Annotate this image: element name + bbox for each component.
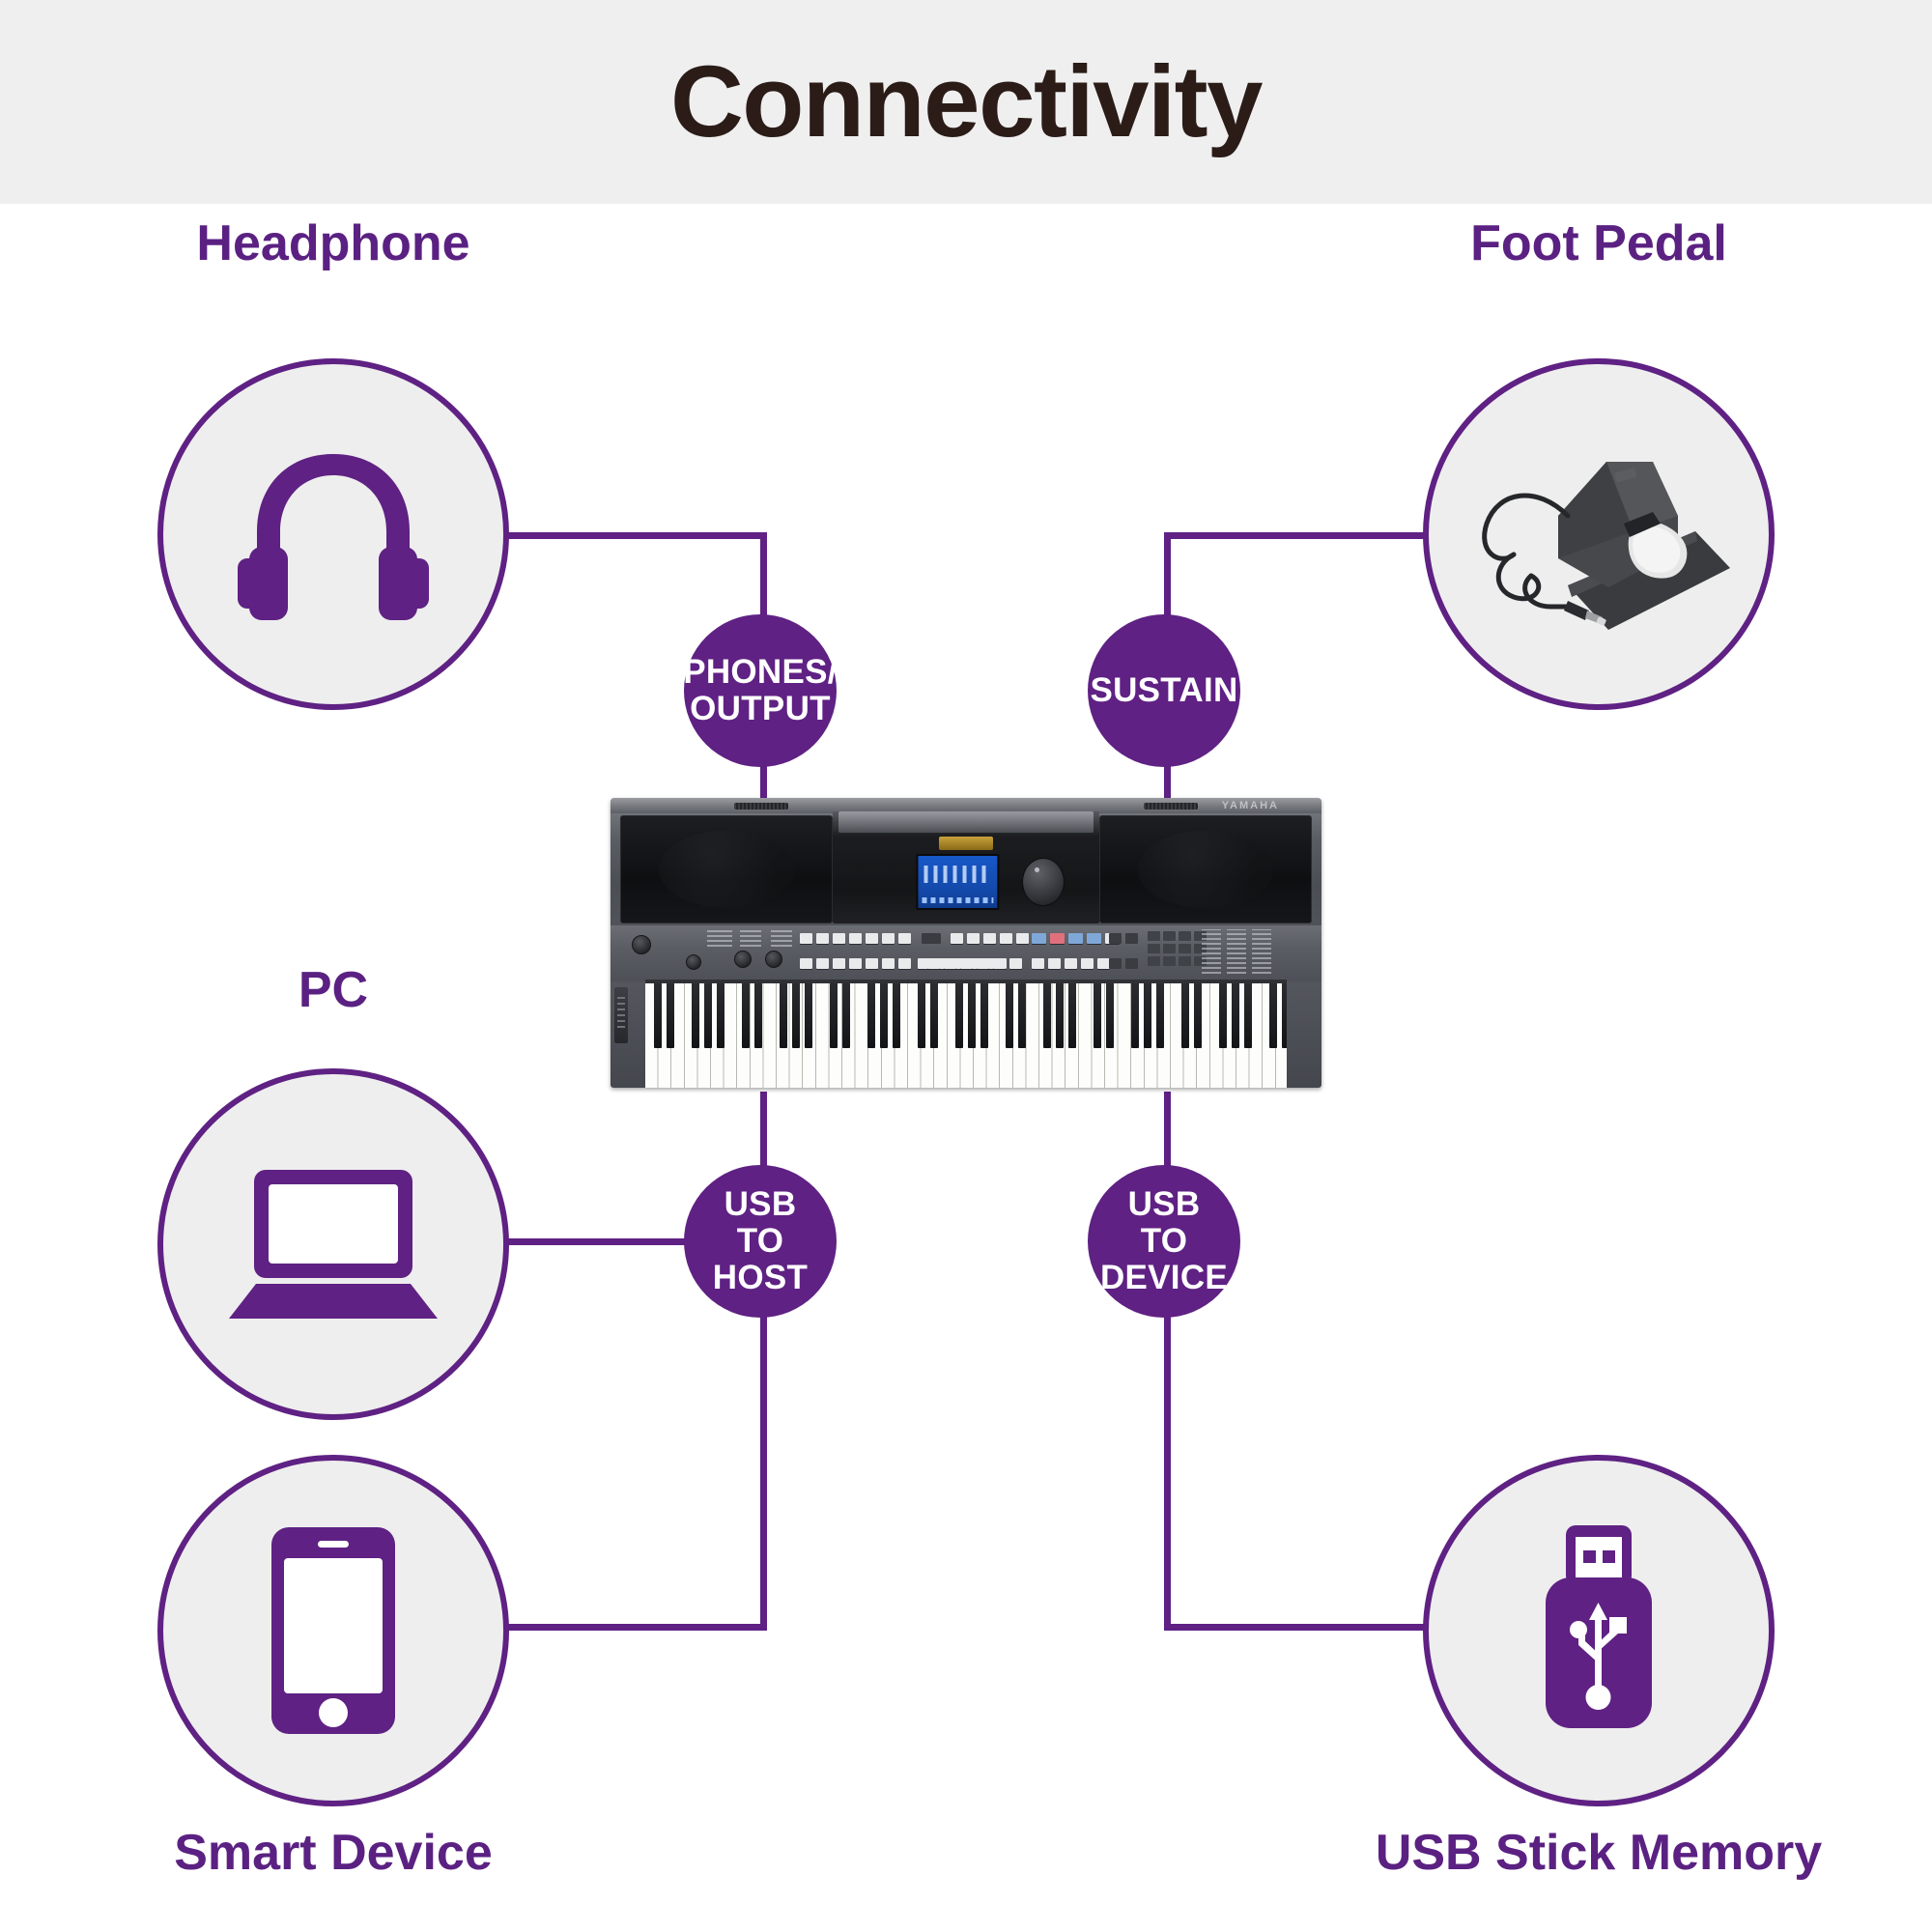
keyboard-keys [645, 980, 1287, 1088]
port-sustain-line1: SUSTAIN [1090, 672, 1237, 709]
wire-footpedal-to-sustain [1164, 532, 1427, 539]
port-usb-to-device-line3: DEVICE [1100, 1260, 1228, 1296]
usb-flash-drive-icon [1536, 1521, 1662, 1740]
headphone-icon [232, 442, 435, 626]
foot-pedal-photo [1454, 423, 1744, 645]
port-usb-to-host-line2: TO [713, 1223, 808, 1260]
wire-usb-device-down [1164, 1285, 1171, 1631]
smartphone-icon [266, 1523, 401, 1738]
page-title: Connectivity [0, 0, 1932, 204]
keyboard-lcd-screen [916, 854, 999, 910]
port-usb-to-host-line3: HOST [713, 1260, 808, 1296]
smart-device-label: Smart Device [92, 1824, 575, 1882]
keyboard-control-panel [611, 925, 1321, 981]
digital-keyboard: YAMAHA [611, 798, 1321, 1088]
usb-stick-memory-label: USB Stick Memory [1357, 1824, 1840, 1882]
foot-pedal-label: Foot Pedal [1357, 214, 1840, 272]
wire-usb-host-to-smart-device [506, 1624, 767, 1631]
keyboard-brand-text: YAMAHA [1222, 800, 1279, 811]
wire-headphone-to-phones [506, 532, 767, 539]
port-usb-to-device-line1: USB [1100, 1186, 1228, 1223]
headphone-label: Headphone [92, 214, 575, 272]
laptop-icon [227, 1162, 440, 1326]
foot-pedal-circle[interactable] [1423, 358, 1775, 710]
keyboard-data-dial [1022, 858, 1065, 906]
port-usb-to-host[interactable]: USB TO HOST [684, 1165, 837, 1318]
port-phones-output[interactable]: PHONES/ OUTPUT [684, 614, 837, 767]
port-phones-output-line1: PHONES/ [683, 654, 838, 691]
connectivity-diagram: Connectivity YAMAHA [0, 0, 1932, 1932]
wire-usb-device-to-stick [1164, 1624, 1427, 1631]
port-usb-to-device[interactable]: USB TO DEVICE [1088, 1165, 1240, 1318]
smart-device-circle[interactable] [157, 1455, 509, 1806]
port-usb-to-host-line1: USB [713, 1186, 808, 1223]
port-usb-to-device-line2: TO [1100, 1223, 1228, 1260]
pc-label: PC [92, 961, 575, 1019]
port-sustain[interactable]: SUSTAIN [1088, 614, 1240, 767]
usb-stick-memory-circle[interactable] [1423, 1455, 1775, 1806]
port-phones-output-line2: OUTPUT [683, 691, 838, 727]
headphone-circle[interactable] [157, 358, 509, 710]
wire-pc-to-usb-host [506, 1238, 699, 1245]
wire-usb-host-down [760, 1285, 767, 1631]
pc-circle[interactable] [157, 1068, 509, 1420]
keyboard-logo-plate [939, 837, 993, 850]
